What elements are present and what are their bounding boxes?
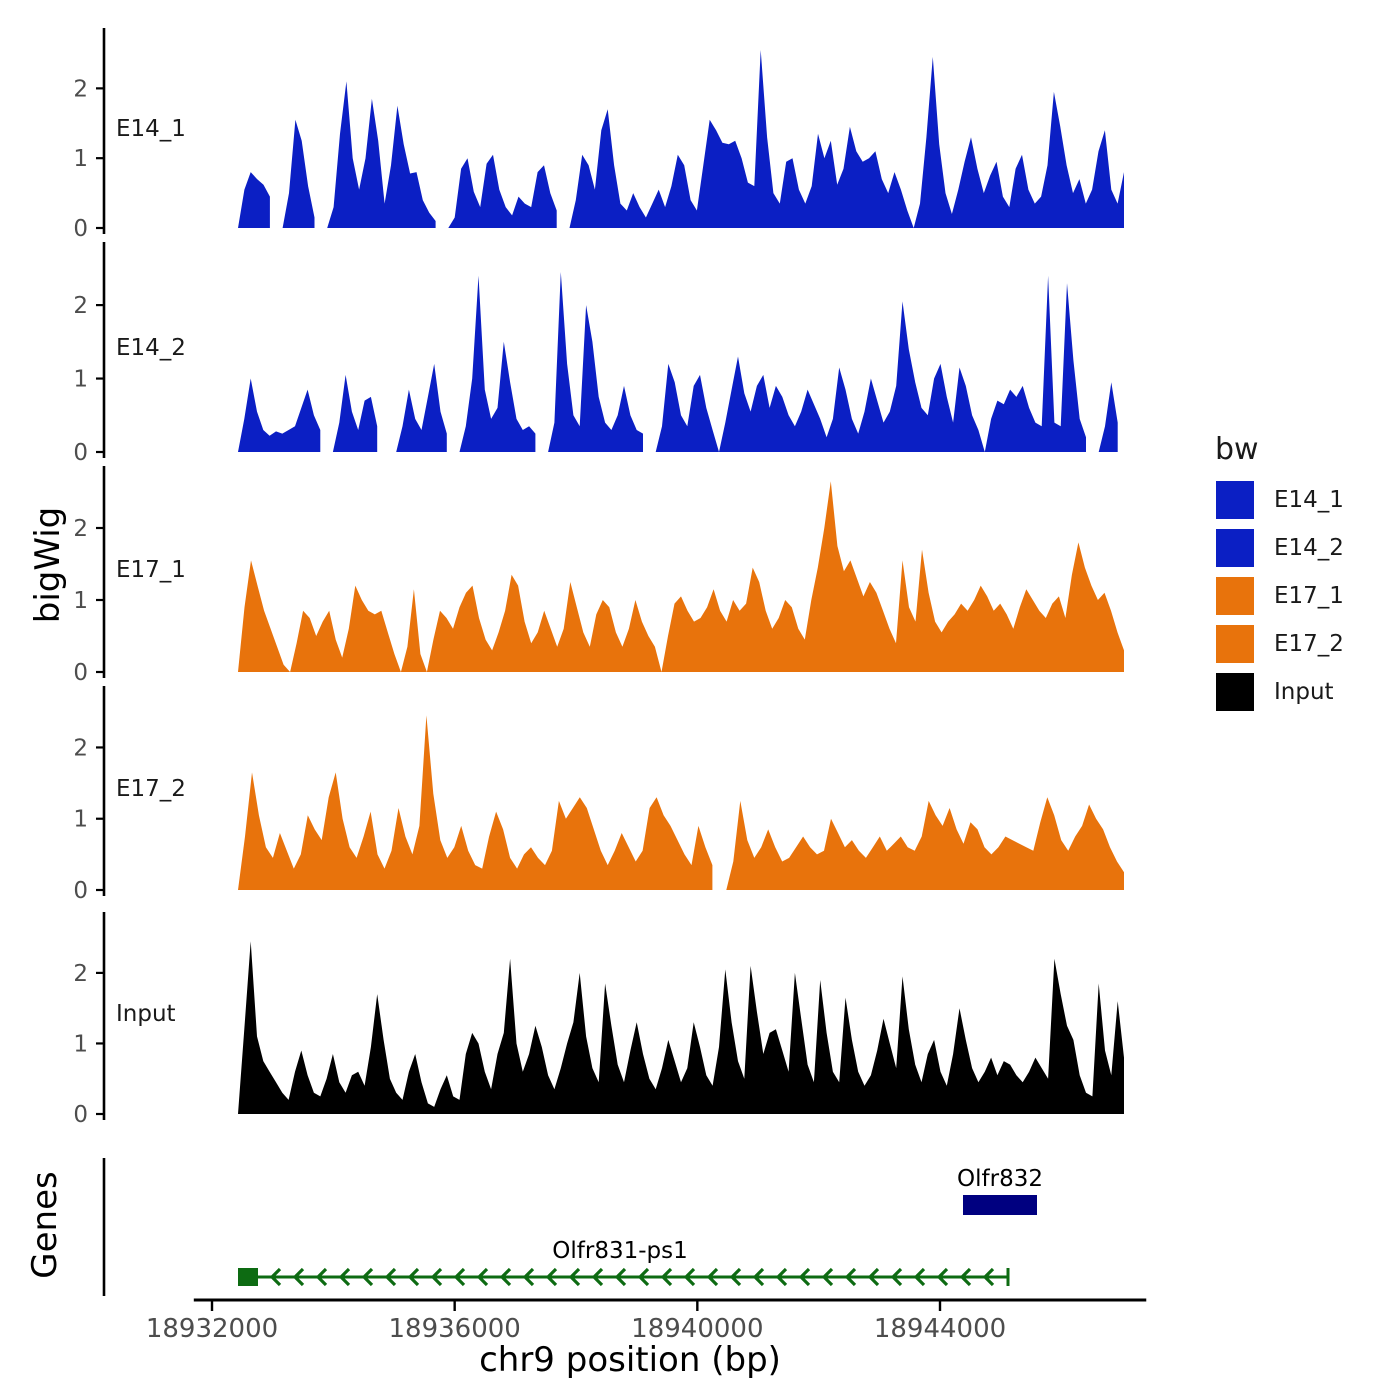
y-tick-label: 2	[73, 961, 88, 987]
coverage-track-input	[238, 941, 1124, 1114]
legend-swatch-e14-2[interactable]	[1216, 529, 1254, 567]
track-label-e17_2: E17_2	[116, 776, 186, 802]
legend-swatch-e17-2[interactable]	[1216, 625, 1254, 663]
gene-exon-box	[238, 1268, 258, 1286]
coverage-track-e17_2	[238, 715, 1124, 890]
track-label-e14_1: E14_1	[116, 116, 186, 142]
y-tick-label: 1	[73, 1031, 88, 1057]
y-tick-label: 1	[73, 367, 88, 393]
coverage-plot: 012E14_1012E14_2012E17_1012E17_2012Input…	[0, 0, 1400, 1400]
genes-axis-title: Genes	[25, 1150, 65, 1300]
y-axis-title: bigWig	[28, 495, 68, 635]
legend-title: bw	[1215, 432, 1259, 467]
x-axis-title: chr9 position (bp)	[90, 1340, 1170, 1380]
coverage-track-e17_1	[238, 481, 1124, 672]
gene-label-olfr831-ps1: Olfr831-ps1	[552, 1238, 687, 1264]
y-tick-label: 0	[73, 1102, 88, 1128]
coverage-track-e14_1	[238, 50, 1124, 228]
track-label-input: Input	[116, 1001, 176, 1027]
y-tick-label: 0	[73, 216, 88, 242]
y-tick-label: 2	[73, 76, 88, 102]
track-label-e14_2: E14_2	[116, 335, 186, 361]
track-label-e17_1: E17_1	[116, 557, 186, 583]
y-tick-label: 2	[73, 516, 88, 542]
y-tick-label: 0	[73, 660, 88, 686]
y-tick-label: 0	[73, 440, 88, 466]
y-tick-label: 0	[73, 878, 88, 904]
y-tick-label: 1	[73, 588, 88, 614]
legend-swatch-e17-1[interactable]	[1216, 577, 1254, 615]
gene-label-olfr832: Olfr832	[957, 1166, 1043, 1192]
legend-label-e14-2: E14_2	[1274, 535, 1344, 561]
y-tick-label: 2	[73, 735, 88, 761]
legend-label-e17-2: E17_2	[1274, 631, 1344, 657]
legend-swatch-e14-1[interactable]	[1216, 481, 1254, 519]
legend-swatch-input[interactable]	[1216, 673, 1254, 711]
gene-olfr831-ps1[interactable]	[238, 1268, 1008, 1286]
y-tick-label: 1	[73, 807, 88, 833]
y-tick-label: 1	[73, 146, 88, 172]
legend-label-e14-1: E14_1	[1274, 487, 1344, 513]
gene-olfr832[interactable]	[963, 1195, 1037, 1215]
legend-label-input: Input	[1274, 679, 1334, 705]
coverage-track-e14_2	[238, 272, 1124, 452]
y-tick-label: 2	[73, 293, 88, 319]
legend-label-e17-1: E17_1	[1274, 583, 1344, 609]
